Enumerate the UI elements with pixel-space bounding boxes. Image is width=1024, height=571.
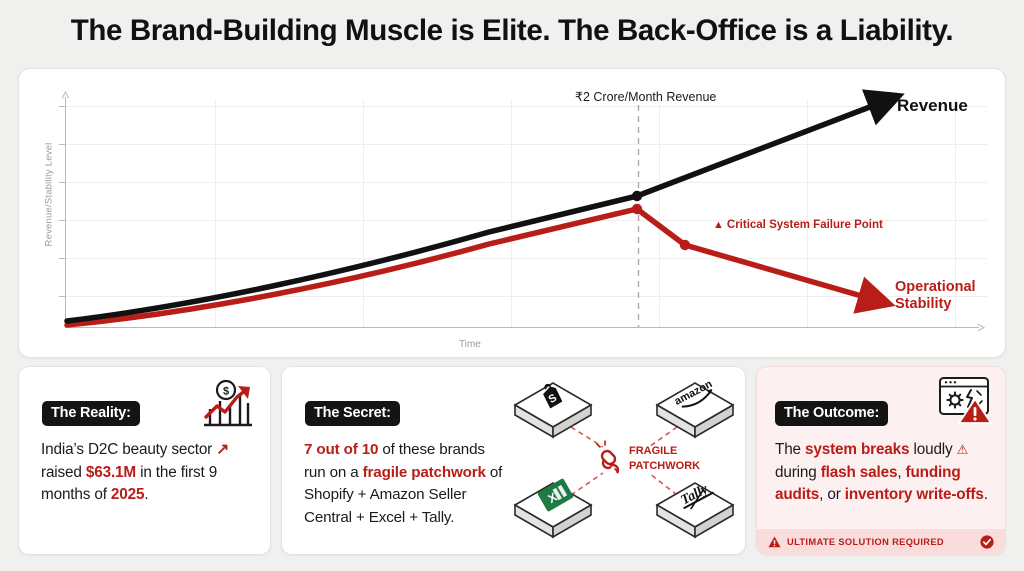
amazon-tile: amazon: [657, 378, 733, 437]
ops-stability-decline: [685, 245, 865, 297]
secret-patchwork-phrase: fragile patchwork: [363, 464, 486, 481]
reality-year: 2025: [111, 486, 144, 503]
outcome-text-1: The: [775, 441, 805, 458]
trend-up-arrow-icon: ↗: [216, 441, 229, 458]
card-outcome-header: The Outcome:: [775, 401, 888, 426]
grid-horizontal: [65, 107, 987, 297]
patchwork-center-line2: PATCHWORK: [629, 460, 700, 472]
reality-text-4: .: [144, 486, 148, 503]
chart-card: Revenue/Stability Level Time ₹2 Crore/Mo…: [18, 68, 1006, 358]
growth-vs-stability-chart: [19, 69, 1006, 358]
y-axis: [59, 97, 66, 327]
outcome-text-5: , or: [819, 486, 845, 503]
warning-triangle-icon: [768, 536, 781, 548]
card-secret-chip: The Secret:: [305, 401, 400, 426]
card-outcome: The Outcome:: [756, 366, 1006, 555]
threshold-annotation: ₹2 Crore/Month Revenue: [575, 89, 716, 104]
ultimate-solution-banner: ULTIMATE SOLUTION REQUIRED: [757, 529, 1005, 554]
check-circle-icon: [980, 535, 994, 549]
reality-amount: $63.1M: [86, 464, 136, 481]
card-reality-header: The Reality:: [42, 401, 140, 426]
reality-text-1: India’s D2C beauty sector: [41, 441, 216, 458]
outcome-text-3: during: [775, 464, 821, 481]
card-reality: The Reality: $: [18, 366, 271, 555]
broken-system-window-icon: [937, 375, 995, 430]
card-secret: The Secret: 7 out of 10 of these brands …: [281, 366, 746, 555]
growth-chart-dollar-icon: $: [196, 379, 258, 436]
failure-point-annotation: ▲Critical System Failure Point: [713, 219, 883, 231]
patchwork-center-line1: FRAGILE: [629, 445, 677, 457]
marker-ops-failure: [680, 240, 690, 250]
warning-triangle-icon: ▲: [713, 219, 724, 231]
ops-stability-series-label: Operational Stability: [895, 279, 976, 313]
ops-label-line1: Operational: [895, 279, 976, 295]
shopify-tile: S: [515, 382, 591, 437]
card-reality-body: India’s D2C beauty sector ↗ raised $63.1…: [41, 439, 256, 507]
ultimate-solution-label: ULTIMATE SOLUTION REQUIRED: [787, 537, 980, 547]
ops-label-line2: Stability: [895, 296, 951, 312]
x-axis-label: Time: [459, 339, 481, 350]
warning-triangle-icon: ⚠: [957, 442, 969, 457]
outcome-breaks: system breaks: [805, 441, 909, 458]
outcome-text-6: .: [984, 486, 988, 503]
excel-tile: X: [515, 478, 591, 537]
outcome-inventory-writeoffs: inventory write-offs: [845, 486, 984, 503]
marker-revenue-threshold: [632, 191, 642, 201]
page-title: The Brand-Building Muscle is Elite. The …: [0, 14, 1024, 48]
y-axis-label: Revenue/Stability Level: [44, 135, 55, 255]
outcome-flash-sales: flash sales: [821, 464, 898, 481]
revenue-series-label: Revenue: [897, 96, 968, 116]
outcome-text-4: ,: [897, 464, 905, 481]
card-outcome-chip: The Outcome:: [775, 401, 888, 426]
secret-ratio: 7 out of 10: [304, 441, 378, 458]
failure-point-label: Critical System Failure Point: [727, 219, 883, 231]
fragile-patchwork-diagram: S amazon: [509, 375, 739, 550]
reality-text-2: raised: [41, 464, 86, 481]
card-secret-body: 7 out of 10 of these brands run on a fra…: [304, 439, 510, 529]
card-outcome-body: The system breaks loudly ⚠ during flash …: [775, 439, 995, 507]
card-secret-header: The Secret:: [305, 401, 400, 426]
card-reality-chip: The Reality:: [42, 401, 140, 426]
infographic-page: The Brand-Building Muscle is Elite. The …: [0, 0, 1024, 571]
broken-chain-icon: [597, 441, 618, 473]
svg-text:$: $: [223, 386, 229, 398]
marker-ops-threshold: [632, 204, 642, 214]
ops-stability-drop: [637, 209, 685, 245]
outcome-text-2: loudly: [909, 441, 956, 458]
insight-cards-row: The Reality: $: [18, 366, 1006, 555]
